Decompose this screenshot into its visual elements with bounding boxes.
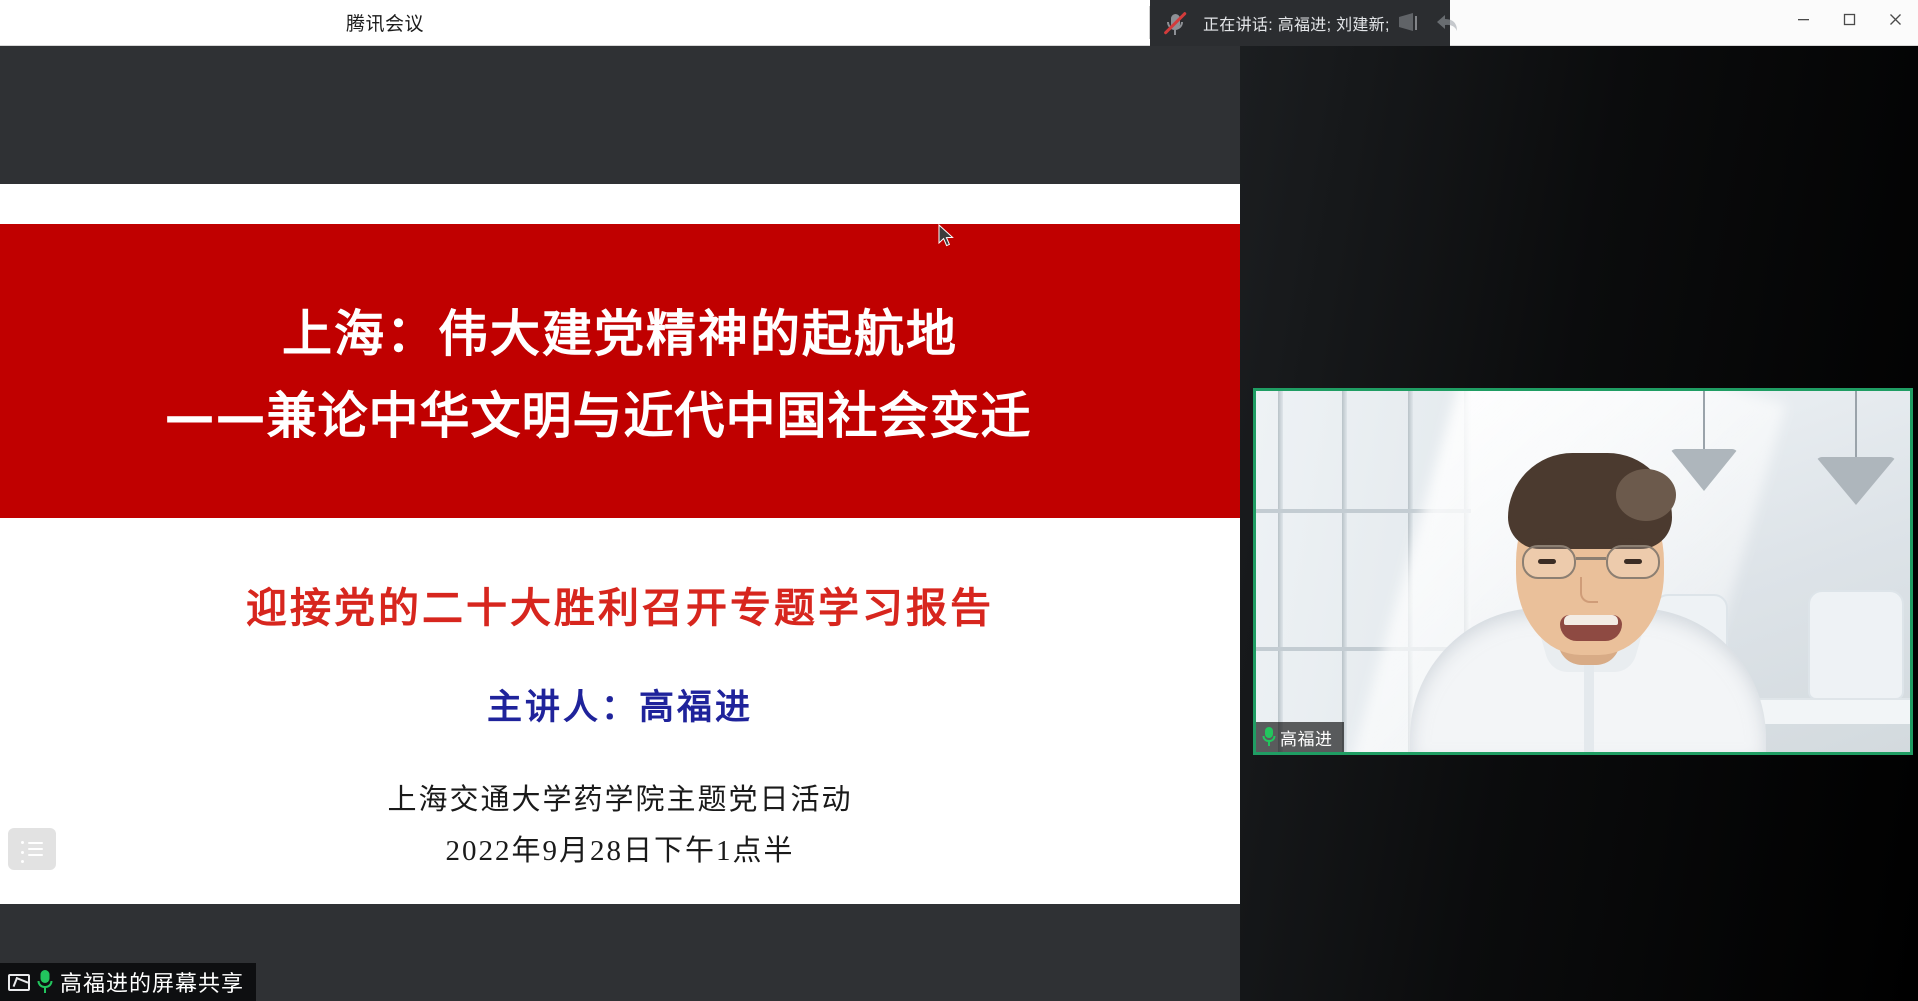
app-tab[interactable]: 腾讯会议: [0, 0, 1150, 46]
participant-nameplate: 高福进: [1256, 722, 1344, 752]
slide-subtitle: 迎接党的二十大胜利召开专题学习报告: [0, 574, 1240, 634]
app-title: 腾讯会议: [346, 9, 424, 36]
meeting-stage: 上海：伟大建党精神的起航地 ——兼论中华文明与近代中国社会变迁 迎接党的二十大胜…: [0, 46, 1918, 1001]
mouse-cursor: [938, 224, 955, 254]
participant-person: [1438, 427, 1738, 755]
video-feed: [1256, 391, 1910, 752]
slide-datetime: 2022年9月28日下午1点半: [0, 827, 1240, 869]
screen-share-owner: 高福进的屏幕共享: [60, 966, 244, 998]
slide-title-line-1: 上海：伟大建党精神的起航地: [282, 294, 958, 366]
tencent-meeting-window: 腾讯会议 正在讲话: 高福进; 刘建新;: [0, 0, 1918, 1001]
window-controls: [1450, 0, 1918, 46]
slide-title-line-2: ——兼论中华文明与近代中国社会变迁: [165, 376, 1032, 448]
screen-share-label: 高福进的屏幕共享: [0, 963, 256, 1001]
letterbox-top: [0, 46, 1240, 184]
back-arrow-icon[interactable]: [1434, 8, 1460, 38]
slide-speaker: 主讲人：高福进: [0, 679, 1240, 730]
slide-organization: 上海交通大学药学院主题党日活动: [0, 776, 1240, 818]
shared-screen-region[interactable]: 上海：伟大建党精神的起航地 ——兼论中华文明与近代中国社会变迁 迎接党的二十大胜…: [0, 46, 1240, 1001]
speaking-indicator-bar: 正在讲话: 高福进; 刘建新;: [1150, 0, 1450, 46]
microphone-muted-icon[interactable]: [1160, 8, 1190, 38]
microphone-on-icon: [1262, 727, 1275, 747]
screen-share-icon[interactable]: [1396, 8, 1422, 38]
office-chair: [1808, 590, 1904, 700]
screen-share-icon: [8, 974, 30, 991]
microphone-on-icon: [37, 970, 53, 994]
speaking-status-label: 正在讲话: 高福进; 刘建新;: [1203, 11, 1390, 35]
slide-title-banner: 上海：伟大建党精神的起航地 ——兼论中华文明与近代中国社会变迁: [0, 224, 1240, 518]
participant-video-tile[interactable]: 高福进: [1253, 388, 1913, 755]
list-menu-icon[interactable]: [8, 828, 56, 870]
participant-name: 高福进: [1280, 725, 1333, 750]
maximize-button[interactable]: [1826, 0, 1872, 38]
presentation-slide: 上海：伟大建党精神的起航地 ——兼论中华文明与近代中国社会变迁 迎接党的二十大胜…: [0, 184, 1240, 904]
title-bar: 腾讯会议 正在讲话: 高福进; 刘建新;: [0, 0, 1918, 46]
close-button[interactable]: [1872, 0, 1918, 38]
minimize-button[interactable]: [1780, 0, 1826, 38]
